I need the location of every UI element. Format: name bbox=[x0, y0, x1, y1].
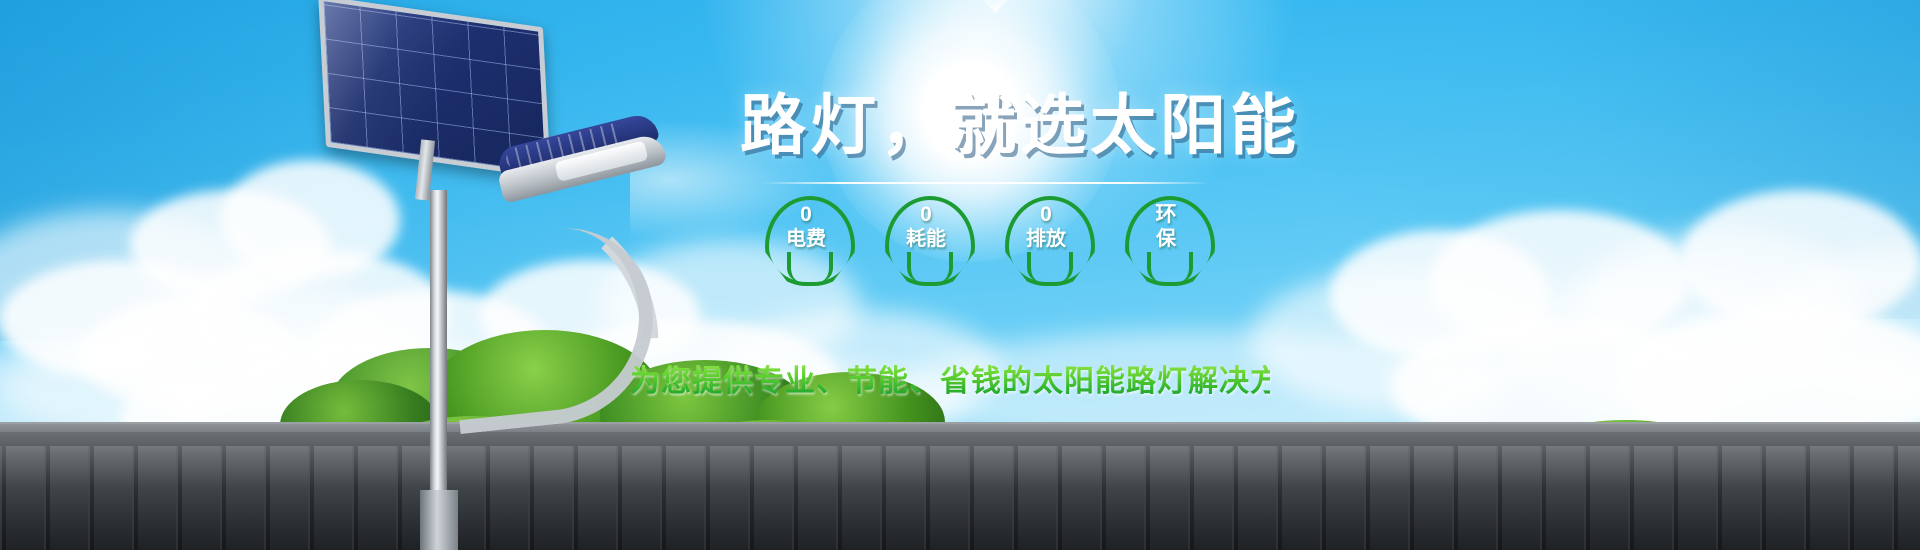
badge-label: 排放 bbox=[1026, 228, 1066, 250]
feature-badge-list: 0 电费 0 耗能 0 排放 bbox=[756, 196, 1216, 278]
badge-value: 0 bbox=[996, 202, 1096, 227]
droplet-neck-icon bbox=[1147, 252, 1193, 282]
solar-lamp-promo-banner: 路灯，就选太阳能 0 电费 0 耗能 bbox=[0, 0, 1920, 550]
feature-badge: 环 保 bbox=[1116, 196, 1216, 278]
badge-text: 环 保 bbox=[1116, 202, 1216, 252]
droplet-neck-icon bbox=[787, 252, 833, 282]
badge-label: 耗能 bbox=[906, 228, 946, 250]
headline: 路灯，就选太阳能 bbox=[740, 92, 1260, 158]
badge-value: 0 bbox=[756, 202, 856, 227]
feature-badge: 0 电费 bbox=[756, 196, 856, 278]
banner-copy: 路灯，就选太阳能 0 电费 0 耗能 bbox=[0, 0, 1920, 550]
droplet-neck-icon bbox=[907, 252, 953, 282]
badge-text: 0 电费 bbox=[756, 202, 856, 252]
badge-value: 环 bbox=[1116, 202, 1216, 227]
badge-text: 0 耗能 bbox=[876, 202, 976, 252]
subheadline: 为您提供专业、节能、省钱的太阳能路灯解决方案！ bbox=[630, 356, 1270, 400]
badge-value: 0 bbox=[876, 202, 976, 227]
droplet-neck-icon bbox=[1027, 252, 1073, 282]
feature-badge: 0 耗能 bbox=[876, 196, 976, 278]
feature-badge: 0 排放 bbox=[996, 196, 1096, 278]
badge-label: 电费 bbox=[786, 228, 826, 250]
badge-text: 0 排放 bbox=[996, 202, 1096, 252]
badge-label: 保 bbox=[1156, 228, 1176, 250]
headline-divider bbox=[760, 182, 1210, 184]
